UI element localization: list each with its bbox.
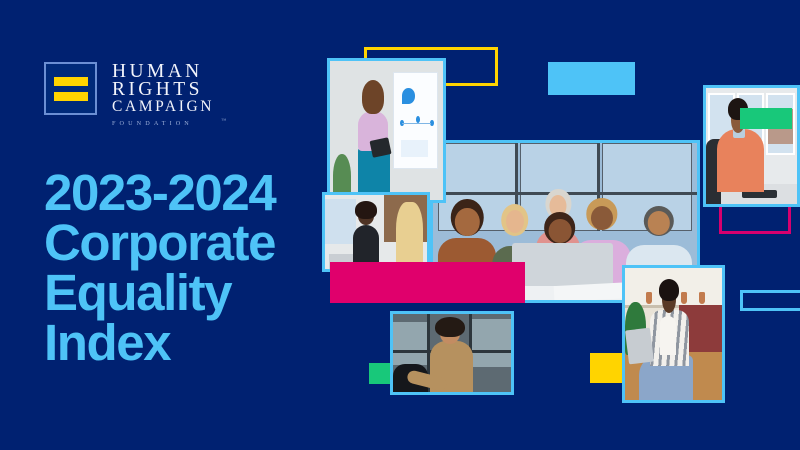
title-word-index: Index (44, 318, 275, 368)
photo-desk-worker (703, 85, 800, 207)
logo-line-rights: RIGHTS (112, 81, 214, 99)
photo-handshake (390, 311, 514, 395)
photo-sofa-worker (622, 265, 725, 403)
photo-presenter (327, 58, 446, 203)
logo-line-campaign: CAMPAIGN (112, 98, 214, 116)
logo-line-human: HUMAN (112, 63, 214, 81)
shape-magenta-solid (330, 262, 525, 303)
shape-yellow-solid (590, 353, 622, 383)
equality-bar-top (54, 77, 88, 86)
shape-blue-solid (548, 62, 635, 95)
equality-bar-bottom (54, 92, 88, 101)
shape-green-solid-right (740, 108, 792, 129)
trademark-icon: ™ (221, 119, 226, 124)
logo-wordmark: HUMAN RIGHTS CAMPAIGN FOUNDATION ™ (112, 62, 214, 127)
photo-colleagues (322, 192, 430, 272)
cei-cover-canvas: HUMAN RIGHTS CAMPAIGN FOUNDATION ™ 2023-… (0, 0, 800, 450)
equality-sign-icon (44, 62, 97, 115)
title-word-equality: Equality (44, 268, 275, 318)
shape-blue-outline (740, 290, 800, 311)
hrc-logo: HUMAN RIGHTS CAMPAIGN FOUNDATION ™ (44, 62, 214, 127)
page-title: 2023-2024 Corporate Equality Index (44, 168, 275, 368)
title-word-corporate: Corporate (44, 218, 275, 268)
logo-foundation-text: FOUNDATION (112, 120, 193, 127)
logo-line-foundation: FOUNDATION ™ (112, 120, 214, 127)
title-year-range: 2023-2024 (44, 168, 275, 218)
